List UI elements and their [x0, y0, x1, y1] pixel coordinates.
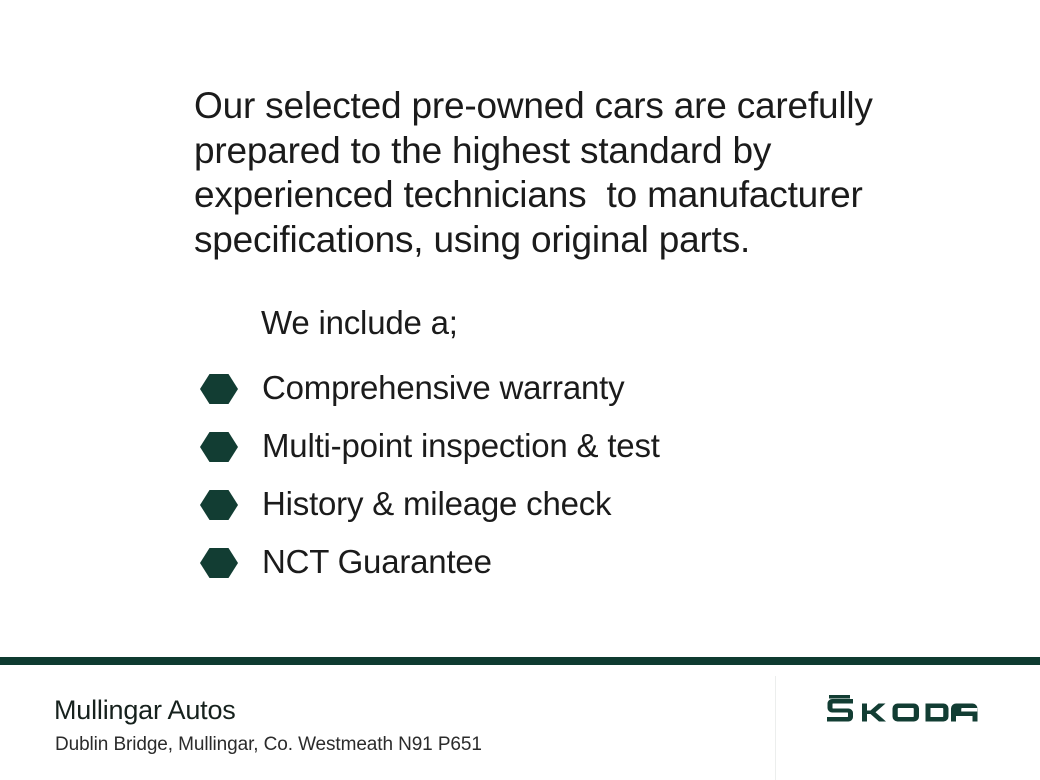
benefits-list: Comprehensive warranty Multi-point inspe… — [200, 360, 900, 592]
footer-divider — [775, 676, 776, 780]
dealer-address: Dublin Bridge, Mullingar, Co. Westmeath … — [55, 733, 482, 757]
hexagon-bullet-icon — [200, 546, 238, 580]
list-item-label: Comprehensive warranty — [262, 369, 624, 407]
hexagon-bullet-icon — [200, 488, 238, 522]
promo-slide: Our selected pre-owned cars are carefull… — [0, 0, 1040, 780]
dealer-name: Mullingar Autos — [54, 694, 236, 726]
list-item: Multi-point inspection & test — [200, 418, 900, 476]
list-item-label: NCT Guarantee — [262, 543, 492, 581]
list-item: Comprehensive warranty — [200, 360, 900, 418]
list-item: NCT Guarantee — [200, 534, 900, 592]
list-item-label: Multi-point inspection & test — [262, 427, 660, 465]
list-item: History & mileage check — [200, 476, 900, 534]
headline-text: Our selected pre-owned cars are carefull… — [194, 84, 894, 262]
skoda-wordmark-icon — [826, 695, 988, 726]
hexagon-bullet-icon — [200, 430, 238, 464]
footer-rule — [0, 657, 1040, 665]
include-label: We include a; — [261, 303, 458, 343]
hexagon-bullet-icon — [200, 372, 238, 406]
list-item-label: History & mileage check — [262, 485, 611, 523]
